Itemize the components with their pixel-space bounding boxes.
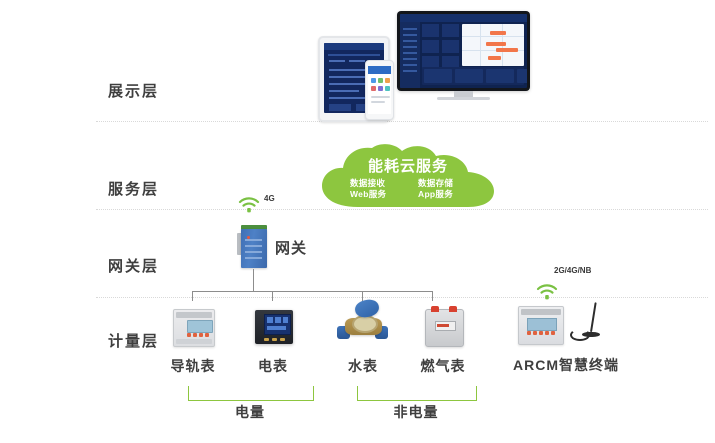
device-electric-meter: 电表: [235, 303, 311, 376]
device-label-electric-meter: 电表: [235, 356, 311, 376]
connector-drop-gas: [432, 291, 433, 301]
din-rail-meter-icon: [155, 303, 231, 351]
gateway-device-icon: [237, 225, 271, 269]
device-din-rail-meter: 导轨表: [155, 303, 231, 376]
wifi-icon: [238, 196, 260, 213]
arcm-network-label: 2G/4G/NB: [554, 266, 591, 275]
device-water-meter: 水表: [325, 298, 401, 376]
arcm-terminal-icon: [508, 300, 624, 350]
gas-meter-icon: [405, 303, 481, 351]
connector-drop-din-rail: [192, 291, 193, 301]
cloud-shape-icon: [318, 144, 498, 210]
layer-divider-gateway-metering: [96, 297, 708, 298]
architecture-diagram: 展示层 服务层 网关层 计量层: [0, 0, 715, 443]
connector-bus-horizontal: [192, 291, 433, 292]
cloud-item-data-receive: 数据接收: [350, 178, 386, 189]
cloud-item-web-service: Web服务: [350, 189, 386, 200]
smartphone-icon: [365, 60, 394, 120]
water-meter-icon: [325, 298, 401, 351]
gateway-network-label: 4G: [264, 194, 275, 203]
monitor-icon: [397, 11, 530, 99]
layer-divider-display-service: [96, 121, 708, 122]
connector-drop-electric: [272, 291, 273, 301]
panel-meter-icon: [235, 303, 311, 351]
connector-gateway-vertical: [253, 269, 254, 291]
cloud-subitems-left: 数据接收 Web服务: [350, 178, 386, 200]
cloud-subitems-right: 数据存储 App服务: [418, 178, 453, 200]
antenna-icon: [570, 302, 598, 344]
device-label-din-rail-meter: 导轨表: [155, 356, 231, 376]
cloud-item-data-storage: 数据存储: [418, 178, 453, 189]
device-label-arcm-terminal: ARCM智慧终端: [508, 355, 624, 375]
layer-label-display: 展示层: [108, 80, 194, 101]
cloud-item-app-service: App服务: [418, 189, 453, 200]
display-layer-devices: [305, 8, 530, 118]
layer-label-gateway: 网关层: [108, 255, 194, 276]
bracket-label-electric: 电量: [188, 402, 312, 422]
device-gas-meter: 燃气表: [405, 303, 481, 376]
device-label-gas-meter: 燃气表: [405, 356, 481, 376]
cloud-title: 能耗云服务: [318, 155, 498, 176]
device-label-water-meter: 水表: [325, 356, 401, 376]
bracket-electric-group: [188, 386, 314, 401]
device-arcm-terminal: ARCM智慧终端: [508, 300, 624, 375]
bracket-label-non-electric: 非电量: [357, 402, 475, 422]
gateway-label: 网关: [275, 237, 307, 258]
layer-label-service: 服务层: [108, 178, 194, 199]
bracket-non-electric-group: [357, 386, 477, 401]
cloud-service: 能耗云服务 数据接收 Web服务 数据存储 App服务: [318, 144, 498, 210]
wifi-icon: [536, 283, 558, 300]
